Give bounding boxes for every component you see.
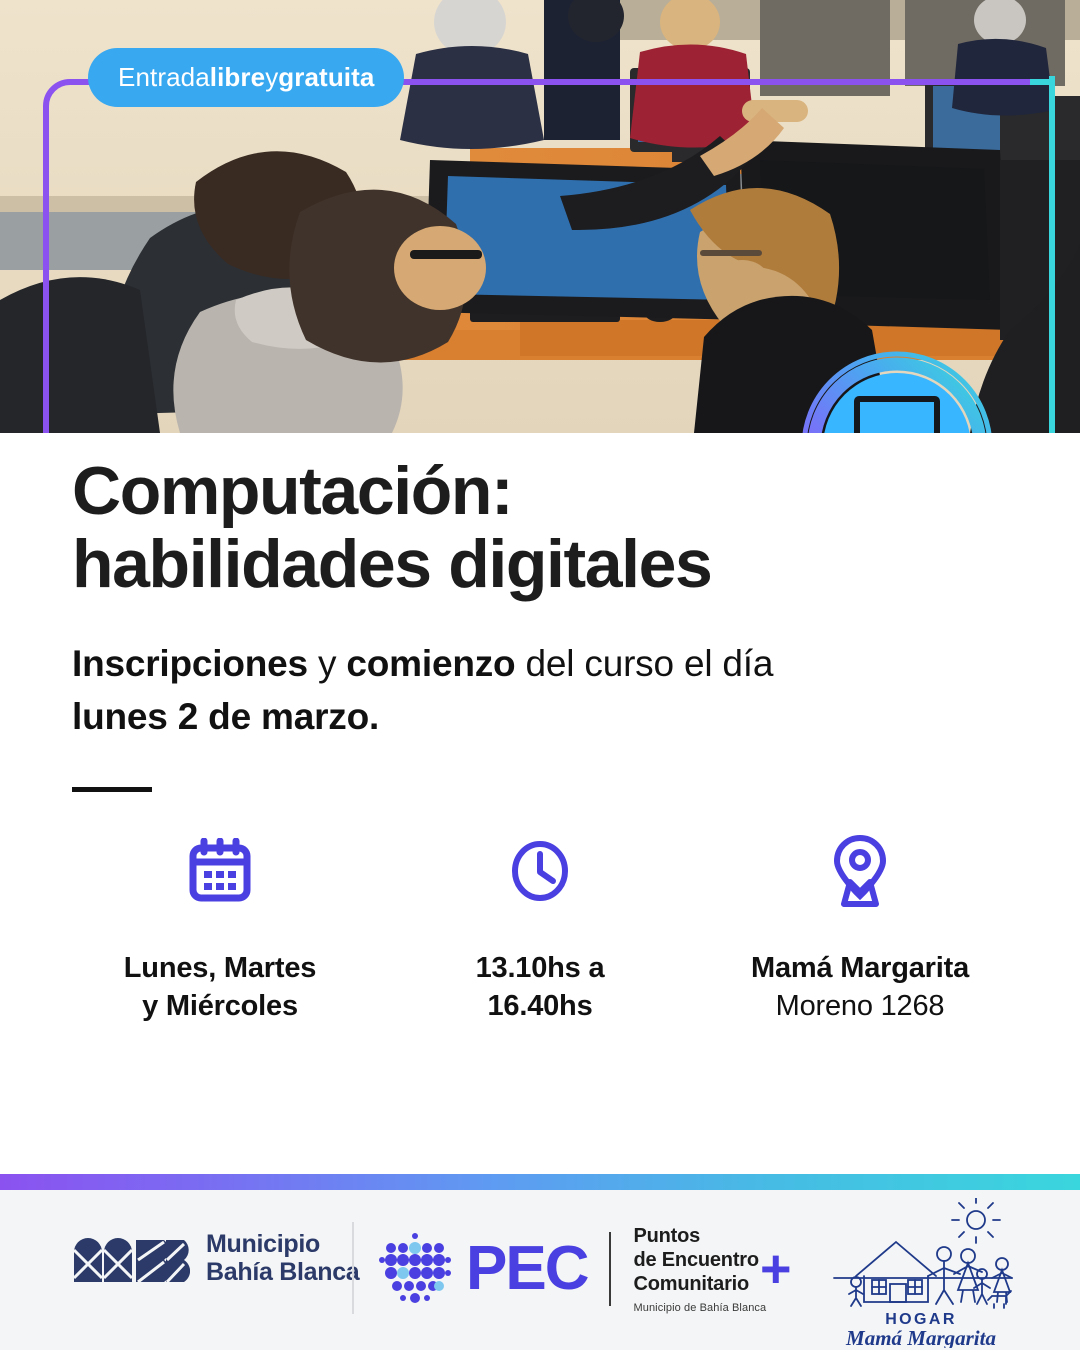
pill-bold-gratuita: gratuita: [278, 62, 374, 93]
footer-divider: [352, 1222, 354, 1314]
pec-logo: PEC Puntos de Encuentro Comunitario Muni…: [378, 1224, 766, 1314]
free-entry-pill: Entrada libre y gratuita: [88, 48, 404, 107]
info-time-text: 13.10hs a 16.40hs: [476, 949, 605, 1026]
subtitle-bold-comienzo: comienzo: [346, 643, 515, 684]
municipio-line-1: Municipio: [206, 1230, 359, 1258]
info-column-time: 13.10hs a 16.40hs: [380, 833, 700, 1026]
info-days-line-1: Lunes, Martes: [124, 949, 316, 987]
info-days-text: Lunes, Martes y Miércoles: [124, 949, 316, 1026]
clock-icon: [510, 833, 570, 909]
pec-subline: Municipio de Bahía Blanca: [633, 1302, 766, 1314]
footer: Municipio Bahía Blanca: [0, 1190, 1080, 1350]
title-line-2: habilidades digitales: [72, 528, 932, 601]
mbb-mark-icon: [72, 1230, 190, 1286]
title-line-1: Computación:: [72, 455, 932, 528]
info-columns: Lunes, Martes y Miércoles 13.10hs a 16.4…: [60, 833, 1020, 1026]
info-column-days: Lunes, Martes y Miércoles: [60, 833, 380, 1026]
calendar-icon: [189, 833, 251, 909]
pec-dot-matrix-icon: [378, 1230, 452, 1308]
mama-margarita-word: Mamá Margarita: [845, 1326, 996, 1348]
pill-prefix: Entrada: [118, 62, 210, 93]
gradient-divider-bar: [0, 1174, 1080, 1190]
info-days-line-2: y Miércoles: [124, 987, 316, 1025]
pec-line-3: Comunitario: [633, 1272, 766, 1296]
page-title: Computación: habilidades digitales: [72, 455, 932, 602]
content-area: Computación: habilidades digitales Inscr…: [0, 433, 1080, 1175]
info-place-text: Mamá Margarita Moreno 1268: [751, 949, 969, 1026]
info-place-line-1: Mamá Margarita: [751, 949, 969, 987]
plus-icon: +: [760, 1242, 792, 1296]
pill-mid: y: [265, 62, 278, 93]
municipio-logo: Municipio Bahía Blanca: [72, 1230, 359, 1286]
info-column-place: Mamá Margarita Moreno 1268: [700, 833, 1020, 1026]
subtitle-bold-date: lunes 2 de marzo.: [72, 696, 379, 737]
municipio-line-2: Bahía Blanca: [206, 1258, 359, 1286]
pec-acronym: PEC: [466, 1238, 587, 1300]
pec-line-2: de Encuentro: [633, 1248, 766, 1272]
municipio-wordmark: Municipio Bahía Blanca: [206, 1230, 359, 1286]
location-pin-icon: [832, 833, 888, 909]
info-time-line-2: 16.40hs: [476, 987, 605, 1025]
info-place-line-2: Moreno 1268: [751, 987, 969, 1025]
divider-rule: [72, 787, 152, 792]
subtitle-bold-inscripciones: Inscripciones: [72, 643, 308, 684]
poster-root: Entrada libre y gratuita: [0, 0, 1080, 1350]
subtitle-mid-1: y: [308, 643, 346, 684]
course-subtitle: Inscripciones y comienzo del curso el dí…: [72, 638, 972, 743]
pill-bold-libre: libre: [210, 62, 265, 93]
subtitle-mid-2: del curso el día: [515, 643, 773, 684]
pec-separator: [609, 1232, 611, 1306]
pec-wordmark: Puntos de Encuentro Comunitario Municipi…: [633, 1224, 766, 1314]
pec-line-1: Puntos: [633, 1224, 766, 1248]
hogar-mama-margarita-logo: HOGAR Mamá Margarita: [816, 1198, 1026, 1348]
info-time-line-1: 13.10hs a: [476, 949, 605, 987]
